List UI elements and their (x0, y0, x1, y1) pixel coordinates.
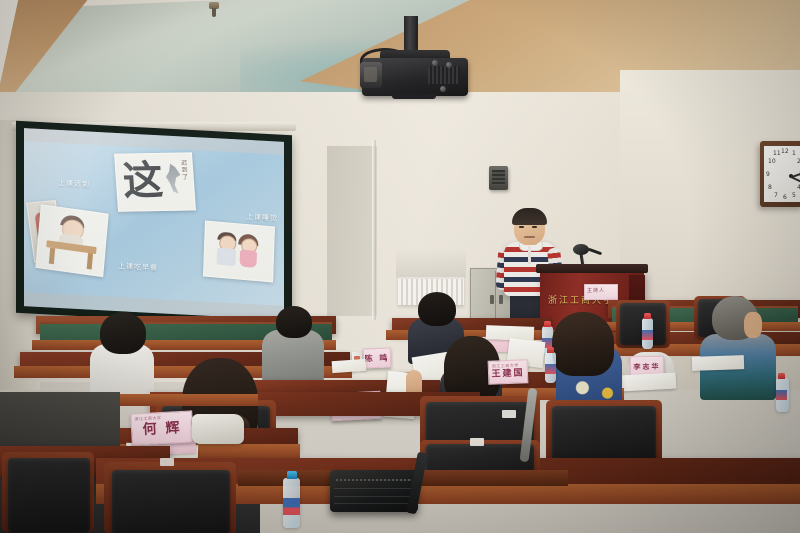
slide-boy-body (216, 248, 236, 267)
clock-numeral: 1 (792, 150, 796, 157)
slide-caption-breakfast: 上课吃早餐 (118, 261, 158, 273)
name-card-text: 陈 鸣 (364, 352, 389, 364)
cabinet-handle-icon[interactable] (499, 295, 503, 304)
wall-recess (327, 146, 377, 316)
name-card-text: 李志华 (633, 361, 660, 371)
bottle-cap-icon (644, 313, 651, 319)
projector-vent (428, 66, 460, 84)
presenter-eye (532, 226, 537, 228)
wall-clock: 11 12 1 10 2 9 3 8 4 7 6 5 (760, 141, 800, 207)
slide-sleeping-student-card (35, 204, 108, 277)
slide-desk-leg (87, 253, 93, 270)
seat-number-tag (160, 458, 174, 466)
seat-number-tag (470, 438, 484, 446)
water-bottle-far-right (776, 378, 789, 412)
wall-corner-highlight (372, 140, 376, 320)
ceiling-sprinkler-icon (207, 2, 221, 18)
briefcase-seam (334, 488, 414, 489)
seat-frontmost-left[interactable] (8, 458, 90, 532)
clock-face: 11 12 1 10 2 9 3 8 4 7 6 5 (764, 146, 800, 202)
bottle-cap-icon (544, 321, 551, 327)
slide-caption-sleep: 上课睡觉 (246, 212, 278, 224)
bottle-cap-icon (778, 373, 785, 379)
water-bottle-foreground (283, 478, 300, 528)
bottle-label (545, 364, 556, 374)
presenter-hair (512, 208, 547, 225)
microphone-icon (573, 244, 589, 255)
cabinet-handle-icon[interactable] (490, 295, 494, 304)
projector-lens-icon (360, 62, 382, 88)
clock-numeral: 12 (781, 148, 789, 155)
projector-knob-icon (440, 86, 446, 92)
wall-speaker (489, 166, 508, 190)
lecture-hall-photo: 这 迟到了 上课迟到 上课睡觉 上课吃早餐 (0, 0, 800, 533)
projector-knob-icon (446, 62, 452, 68)
name-card-wang: 浙江工商大学 王建国 (488, 359, 529, 384)
slide-corner-note: 迟到了 (178, 159, 188, 180)
attendee-grey-shirt-hair (276, 306, 312, 338)
clock-center-pin (789, 174, 793, 178)
leather-briefcase (330, 470, 418, 512)
slide-main-character: 这 (121, 158, 164, 205)
attendee-teal-polo-face (744, 312, 762, 338)
attendee-white-blouse-hair (100, 312, 146, 354)
lectern-top (536, 264, 648, 273)
document-stack (332, 359, 367, 373)
podium-name-card-text: 主持人 (587, 287, 605, 294)
clock-numeral: 10 (768, 158, 776, 165)
document-stack (620, 373, 677, 392)
name-card-he: 浙江工商大学 何 辉 (130, 410, 194, 445)
document-stack (692, 355, 744, 371)
clock-numeral: 5 (792, 192, 796, 199)
bottle-label (642, 330, 653, 340)
briefcase-seam (334, 496, 414, 497)
attendee-dark-shirt-hair (418, 292, 456, 326)
seat-foreground-c[interactable] (552, 406, 656, 462)
water-bottle-right-back (642, 318, 653, 349)
name-card-header: 浙江工商大学 (492, 363, 519, 370)
clock-numeral: 7 (774, 192, 778, 199)
clock-numeral: 9 (766, 171, 770, 178)
bottle-cap-icon (547, 347, 554, 353)
projector-foot (392, 94, 436, 99)
clock-numeral: 11 (773, 150, 781, 157)
slide-girl-body (239, 250, 257, 268)
projection-screen: 这 迟到了 上课迟到 上课睡觉 上课吃早餐 (24, 128, 284, 320)
bottle-label (283, 498, 300, 515)
presenter-mouth (524, 236, 535, 238)
water-bottle-floral (545, 352, 556, 383)
attendee-floral-dress-hair (552, 312, 614, 376)
seat-frontmost-a[interactable] (112, 470, 230, 533)
radiator-wall-stain (396, 248, 466, 278)
bottle-label (776, 390, 787, 400)
bottle-cap-icon (287, 471, 297, 479)
slide-caption-late: 上课迟到 (58, 178, 90, 190)
slide-pair-card (203, 220, 275, 282)
seat-number-tag (502, 410, 516, 418)
presenter-eye (519, 226, 524, 228)
clock-numeral: 6 (783, 194, 787, 201)
projector-knob-icon (432, 60, 438, 66)
white-bag (192, 414, 244, 444)
clock-numeral: 8 (768, 184, 772, 191)
slide-desk-leg (49, 248, 55, 265)
name-card-chen: 陈 鸣 (363, 348, 392, 369)
briefcase-seam (334, 503, 414, 504)
slide-character-card: 这 迟到了 (114, 152, 196, 211)
presenter-placket (528, 246, 531, 264)
podium-name-card: 主持人 (584, 284, 618, 300)
briefcase-zipper-icon (336, 479, 412, 481)
